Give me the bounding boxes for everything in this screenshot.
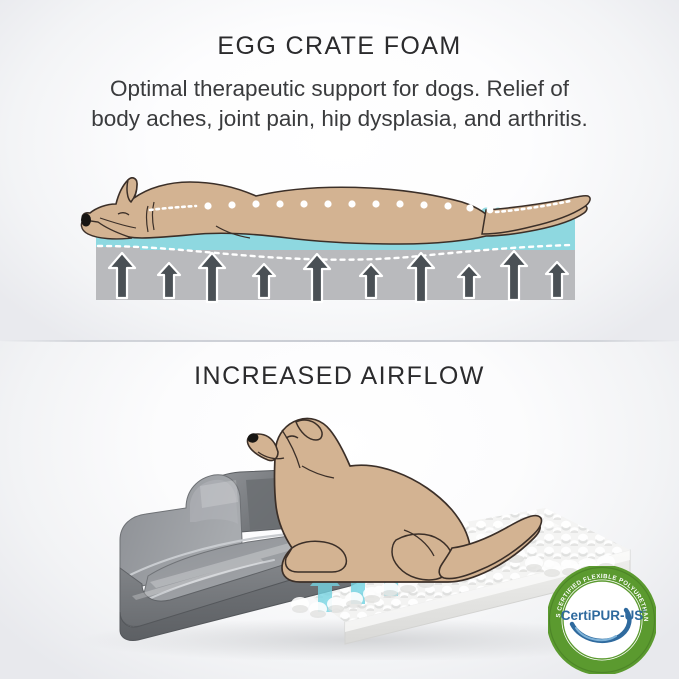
section-divider [0, 340, 679, 342]
subtitle-line-1: Optimal therapeutic support for dogs. Re… [24, 74, 655, 104]
certipur-us-badge: CONTAINS CERTIFIED FLEXIBLE POLYURETHANE… [548, 566, 656, 674]
dog-nose [81, 214, 91, 227]
egg-crate-cross-section-illustration [0, 150, 679, 330]
dog-lying-side-view [81, 178, 590, 244]
subtitle-line-2: body aches, joint pain, hip dysplasia, a… [24, 104, 655, 134]
subtitle-text: Optimal therapeutic support for dogs. Re… [24, 74, 655, 134]
badge-brand-text: CertiPUR-US [561, 608, 644, 623]
badge-trademark: ® [642, 608, 646, 615]
dog-resting-on-bed [246, 418, 541, 582]
page-title-egg-crate-foam: EGG CRATE FOAM [0, 32, 679, 61]
infographic-root: EGG CRATE FOAM Optimal therapeutic suppo… [0, 0, 679, 679]
page-title-increased-airflow: INCREASED AIRFLOW [0, 362, 679, 391]
dog-front-leg [286, 541, 347, 572]
